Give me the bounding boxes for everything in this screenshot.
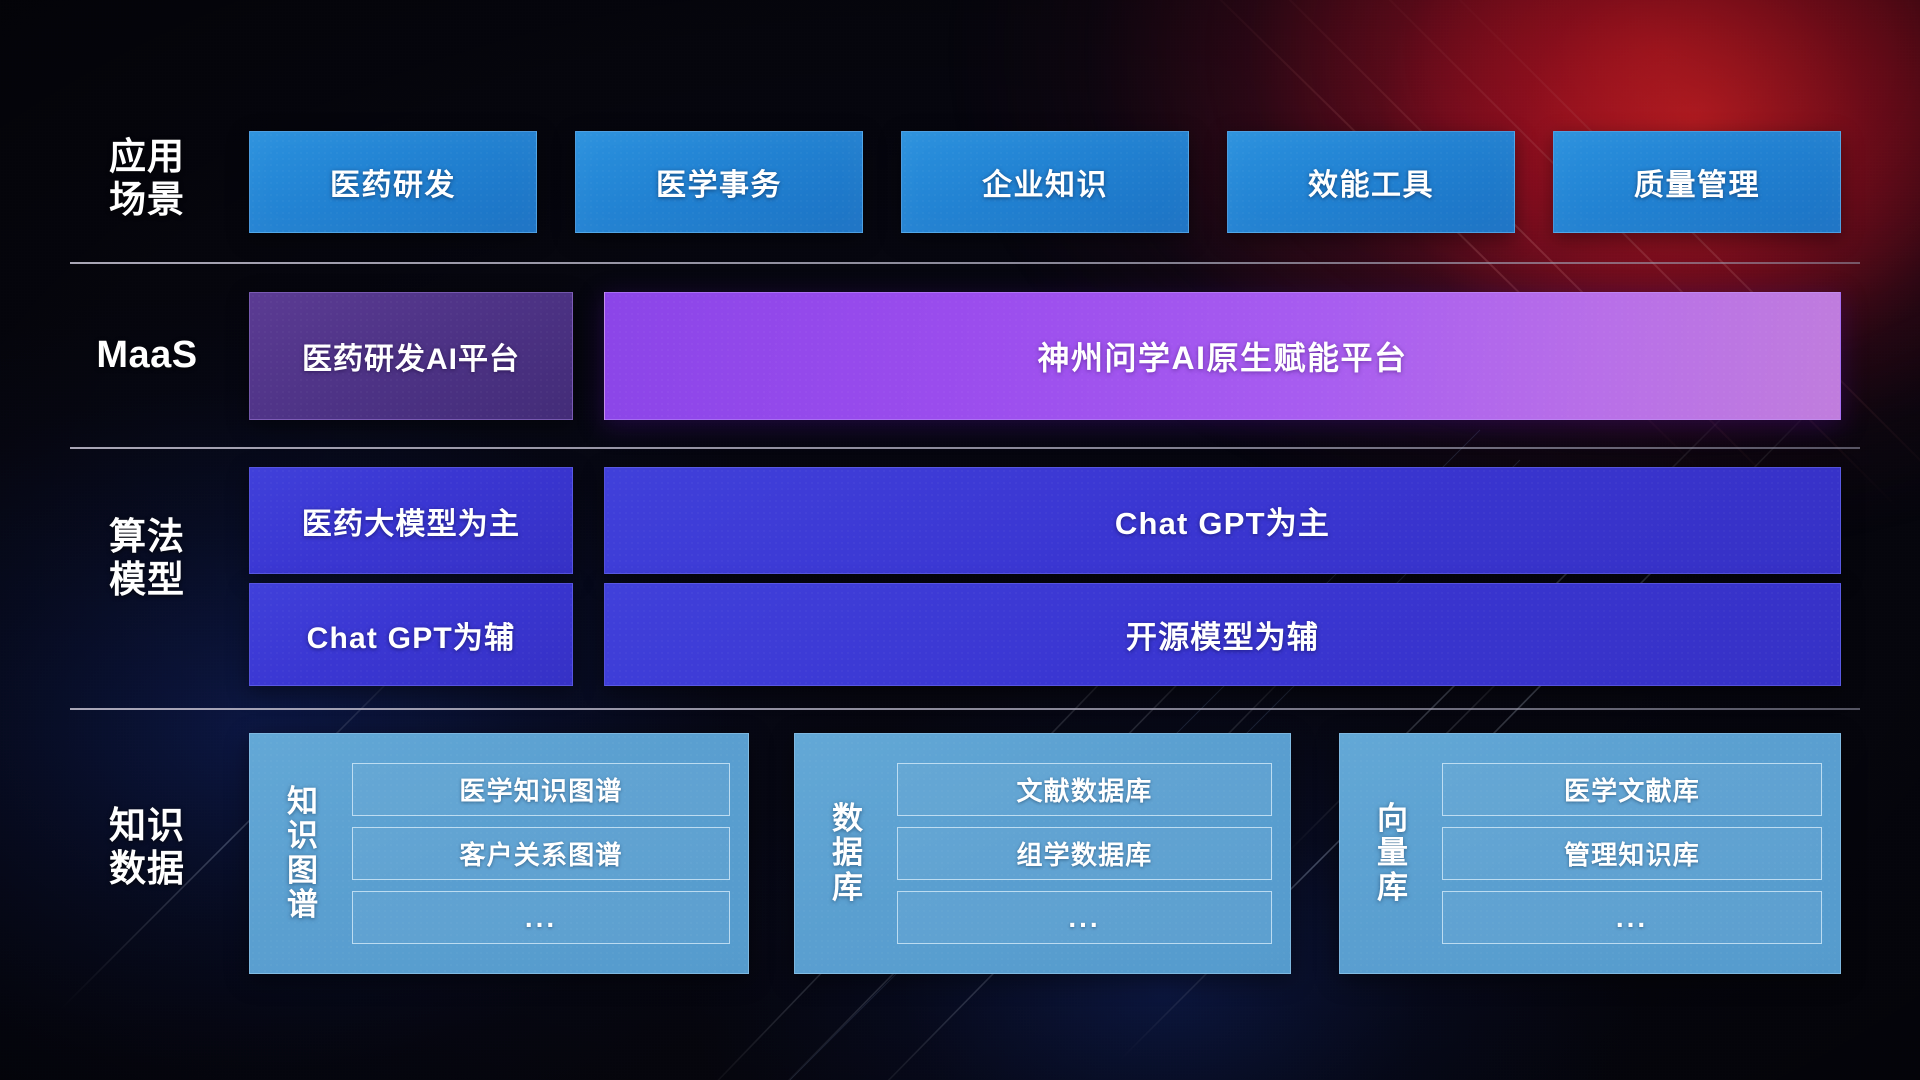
algo-chatgpt-secondary-label: Chat GPT为辅: [307, 613, 516, 657]
app-box-efficiency-tool-label: 效能工具: [1308, 160, 1434, 204]
app-box-efficiency-tool[interactable]: 效能工具: [1227, 131, 1515, 233]
kd-item-medical-knowledge-graph[interactable]: 医学知识图谱: [352, 763, 730, 816]
architecture-diagram: 应用 场景 医药研发 医学事务 企业知识 效能工具 质量管理 MaaS 医药研发…: [0, 0, 1920, 1080]
tier-label-application-scenarios: 应用 场景: [72, 136, 222, 222]
kd-item-label: ...: [1616, 902, 1648, 934]
kd-item-label: 客户关系图谱: [459, 835, 622, 872]
app-box-enterprise-kb-label: 企业知识: [982, 160, 1108, 204]
algo-chatgpt-primary[interactable]: Chat GPT为主: [604, 467, 1841, 574]
kd-item-more-database[interactable]: ...: [897, 891, 1272, 944]
maas-shenzhou-wenxue-platform-label: 神州问学AI原生赋能平台: [1037, 333, 1407, 379]
divider-after-algorithm-models: [70, 708, 1860, 710]
kd-group-database-title: 数 据 库: [811, 802, 885, 904]
kd-item-label: 组学数据库: [1016, 835, 1152, 872]
kd-group-knowledge-graph-items: 医学知识图谱 客户关系图谱 ...: [340, 763, 730, 944]
algo-pharma-llm-primary[interactable]: 医药大模型为主: [249, 467, 573, 574]
app-box-drug-rd-label: 医药研发: [330, 160, 456, 204]
algo-pharma-llm-primary-label: 医药大模型为主: [302, 499, 520, 543]
kd-group-knowledge-graph-title: 知 识 图 谱: [266, 785, 340, 921]
maas-shenzhou-wenxue-platform[interactable]: 神州问学AI原生赋能平台: [604, 292, 1841, 420]
app-box-enterprise-kb[interactable]: 企业知识: [901, 131, 1189, 233]
kd-group-vector-store-title: 向 量 库: [1356, 802, 1430, 904]
algo-chatgpt-primary-label: Chat GPT为主: [1115, 498, 1330, 543]
app-box-drug-rd[interactable]: 医药研发: [249, 131, 537, 233]
kd-group-database[interactable]: 数 据 库 文献数据库 组学数据库 ...: [794, 733, 1291, 974]
kd-item-label: 文献数据库: [1016, 771, 1152, 808]
tier-label-maas: MaaS: [72, 333, 222, 377]
algo-opensource-secondary[interactable]: 开源模型为辅: [604, 583, 1841, 686]
kd-item-label: ...: [525, 902, 557, 934]
kd-item-management-knowledge-store[interactable]: 管理知识库: [1442, 827, 1822, 880]
kd-item-medical-literature-store[interactable]: 医学文献库: [1442, 763, 1822, 816]
maas-drug-rd-ai-platform-label: 医药研发AI平台: [302, 334, 520, 378]
tier-label-algorithm-models: 算法 模型: [72, 516, 222, 602]
app-box-medical-affairs[interactable]: 医学事务: [575, 131, 863, 233]
kd-item-omics-database[interactable]: 组学数据库: [897, 827, 1272, 880]
kd-item-customer-relationship-graph[interactable]: 客户关系图谱: [352, 827, 730, 880]
kd-group-vector-store-items: 医学文献库 管理知识库 ...: [1430, 763, 1822, 944]
divider-after-maas: [70, 447, 1860, 449]
app-box-quality-mgmt-label: 质量管理: [1634, 160, 1760, 204]
kd-group-database-items: 文献数据库 组学数据库 ...: [885, 763, 1272, 944]
kd-item-more-knowledge-graph[interactable]: ...: [352, 891, 730, 944]
algo-opensource-secondary-label: 开源模型为辅: [1126, 612, 1319, 657]
kd-item-more-vector-store[interactable]: ...: [1442, 891, 1822, 944]
kd-group-knowledge-graph[interactable]: 知 识 图 谱 医学知识图谱 客户关系图谱 ...: [249, 733, 749, 974]
kd-item-literature-database[interactable]: 文献数据库: [897, 763, 1272, 816]
divider-after-application-scenarios: [70, 262, 1860, 264]
app-box-quality-mgmt[interactable]: 质量管理: [1553, 131, 1841, 233]
algo-chatgpt-secondary[interactable]: Chat GPT为辅: [249, 583, 573, 686]
maas-drug-rd-ai-platform[interactable]: 医药研发AI平台: [249, 292, 573, 420]
tier-label-knowledge-data: 知识 数据: [72, 805, 222, 891]
kd-item-label: 医学文献库: [1564, 771, 1700, 808]
kd-item-label: 管理知识库: [1564, 835, 1700, 872]
kd-item-label: 医学知识图谱: [459, 771, 622, 808]
kd-group-vector-store[interactable]: 向 量 库 医学文献库 管理知识库 ...: [1339, 733, 1841, 974]
app-box-medical-affairs-label: 医学事务: [656, 160, 782, 204]
kd-item-label: ...: [1068, 902, 1100, 934]
